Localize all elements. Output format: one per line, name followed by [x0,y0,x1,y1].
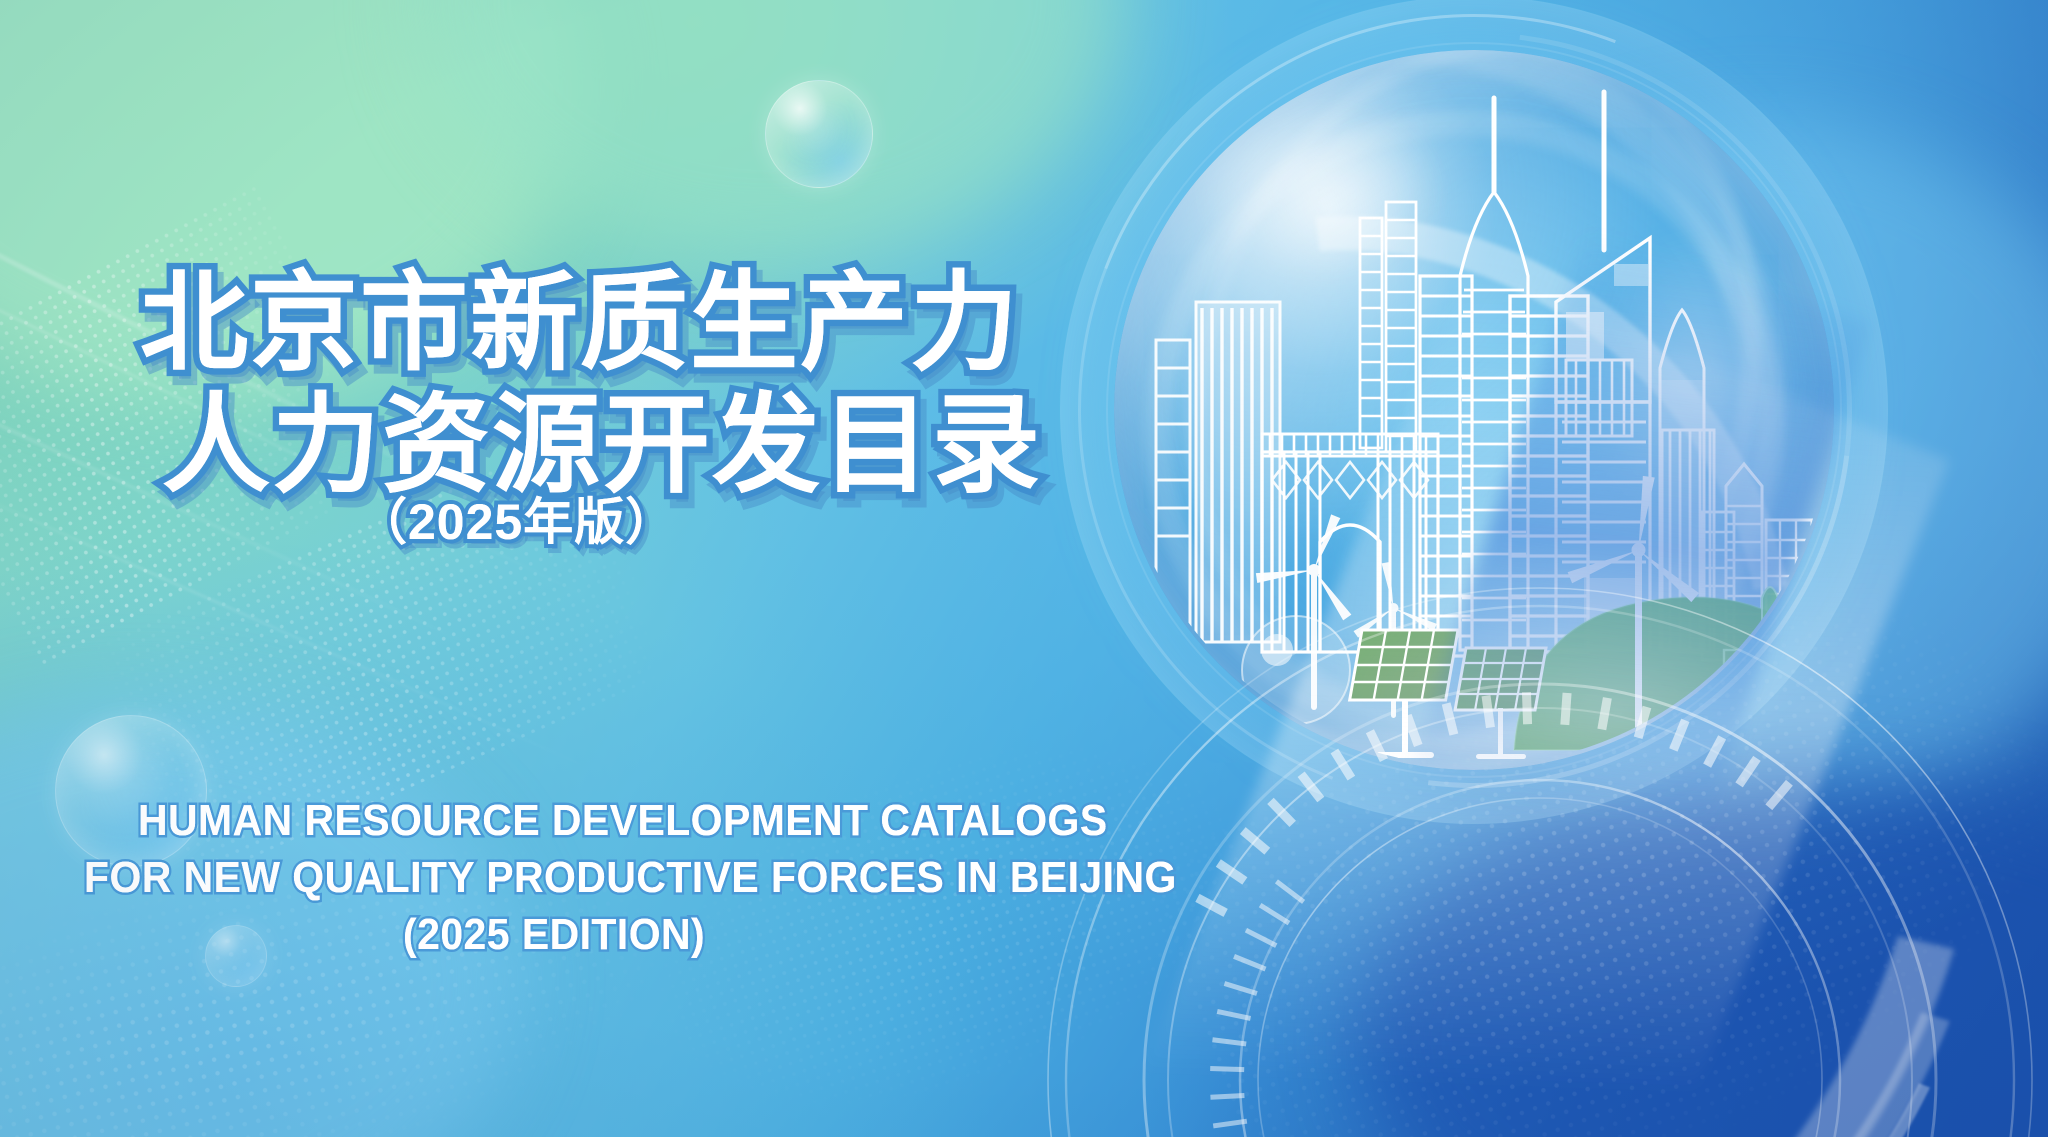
title-chinese-line-1: 北京市新质生产力 北京市新质生产力 北京市新质生产力 [140,236,1020,392]
edition-cn-fill: （2025年版） [357,494,676,550]
vignette-overlay [0,0,2048,1137]
title-cn1-fill: 北京市新质生产力 [140,262,1020,383]
poster-canvas: 北京市新质生产力 北京市新质生产力 北京市新质生产力 人力资源开发目录 人力资源… [0,0,2048,1137]
title-cn2-fill: 人力资源开发目录 [162,384,1042,505]
